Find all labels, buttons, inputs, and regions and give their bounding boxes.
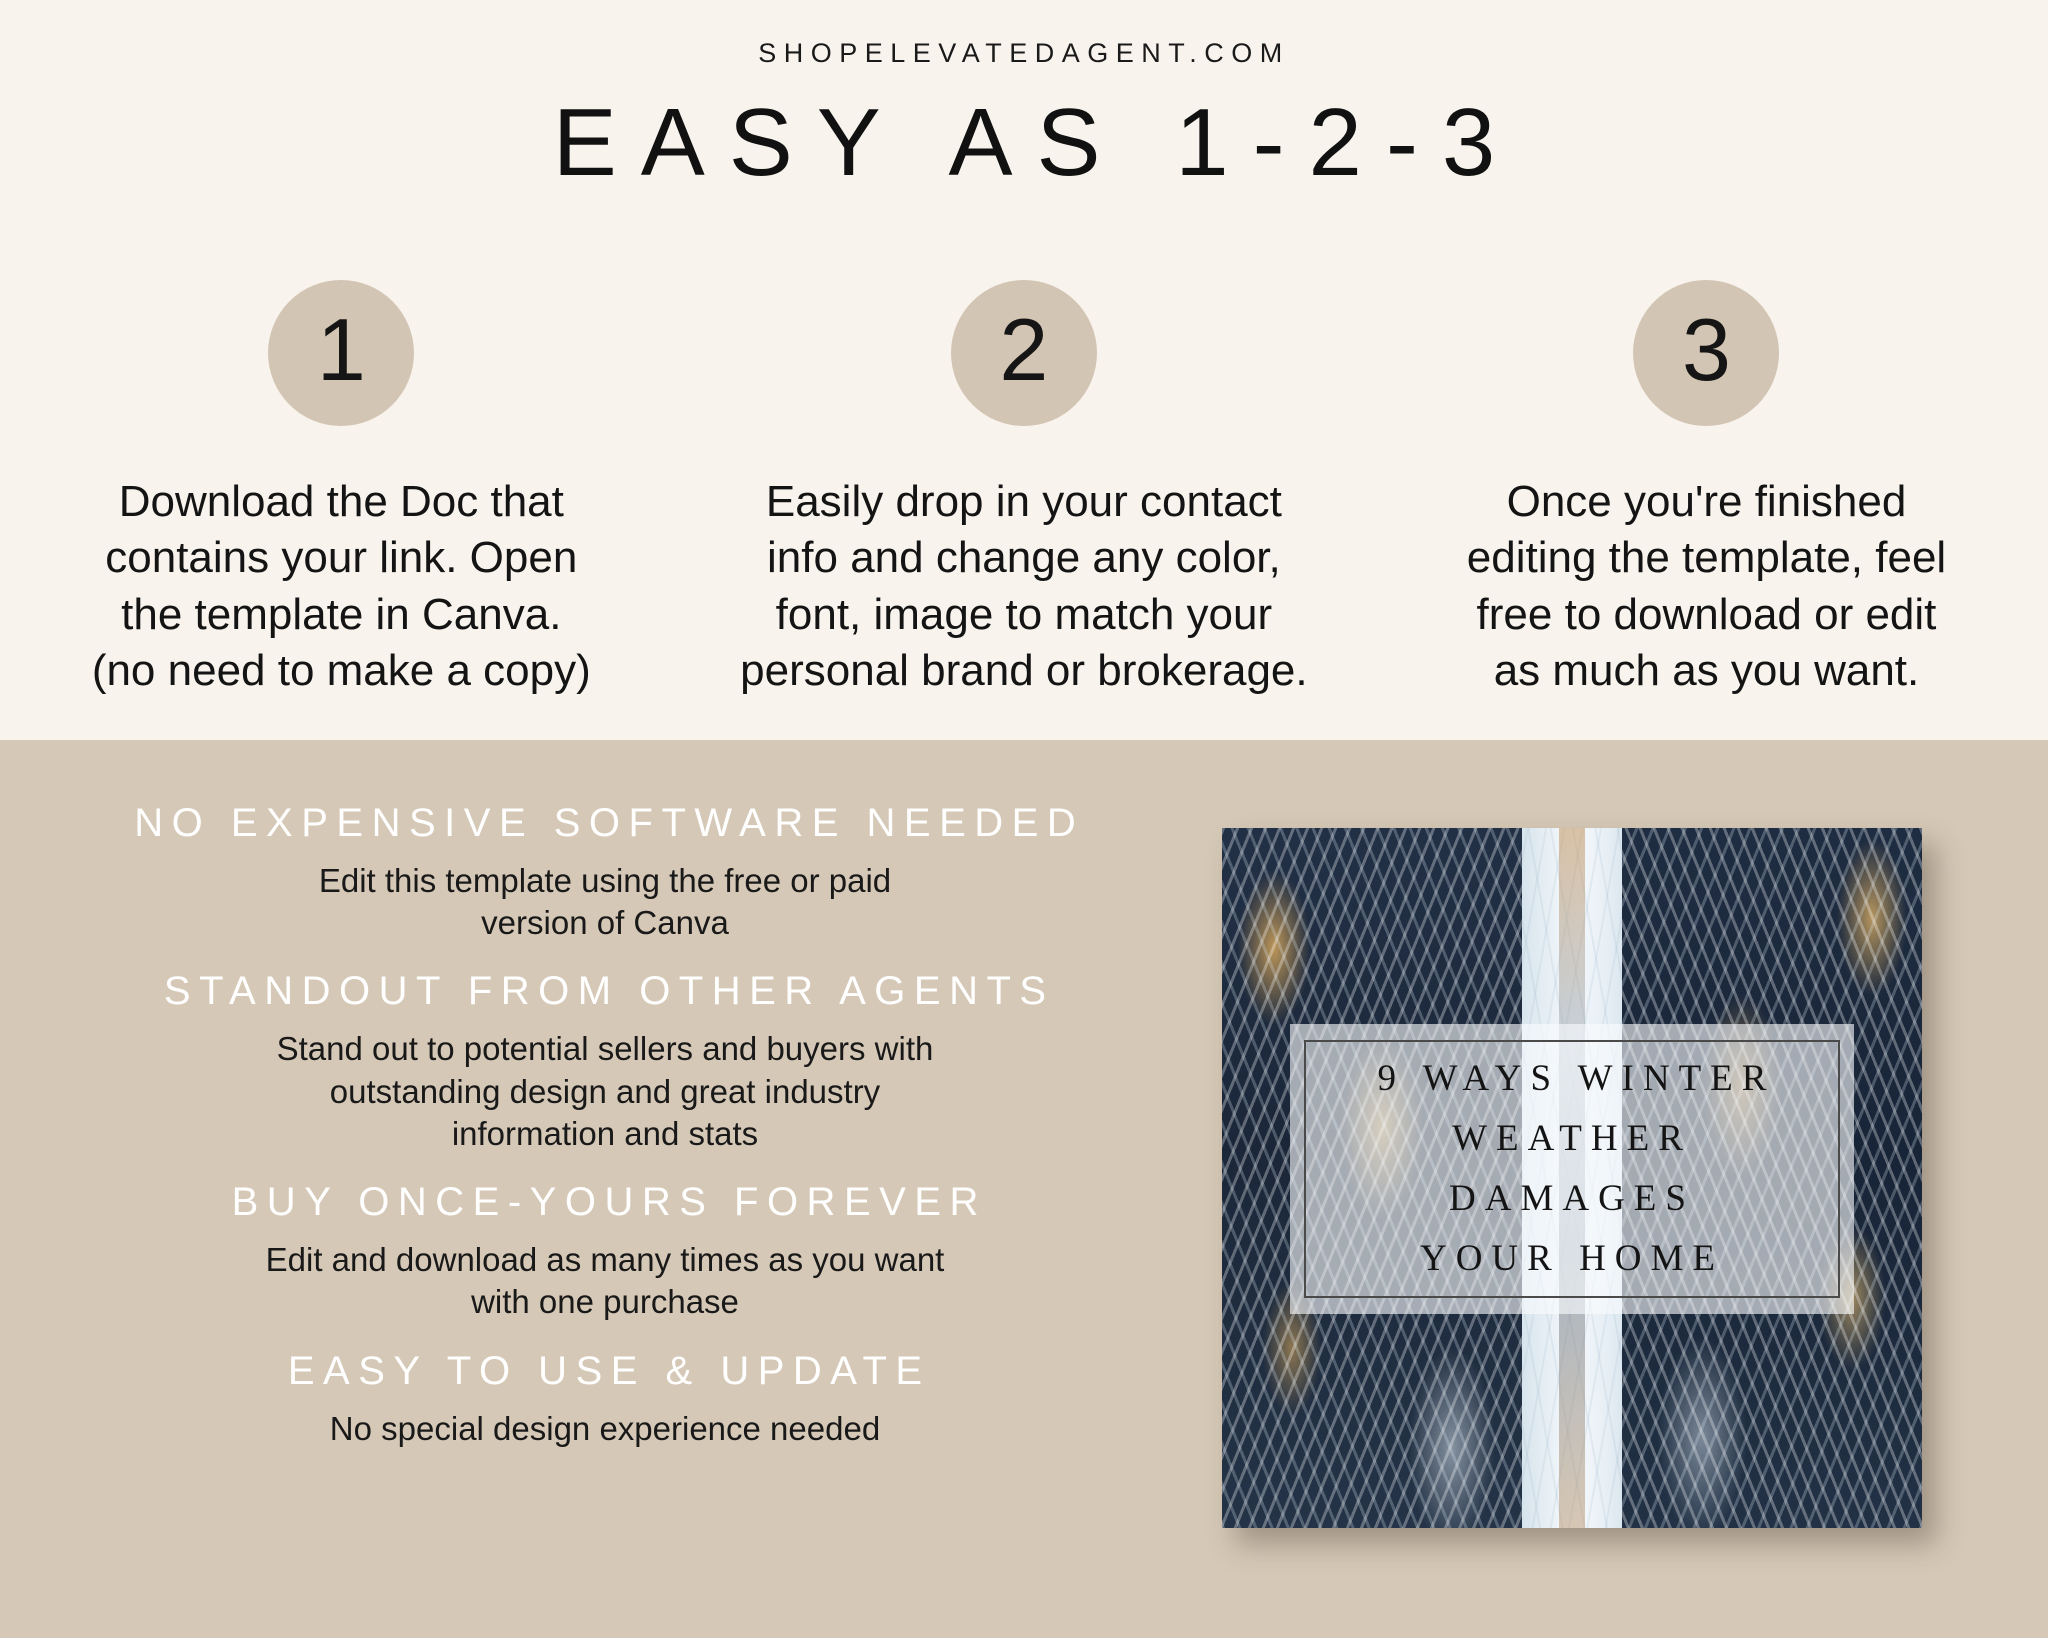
feature-item-4: EASY TO USE & UPDATE No special design e… — [0, 1346, 1210, 1450]
feature-heading-1: NO EXPENSIVE SOFTWARE NEEDED — [0, 798, 1210, 848]
feature-heading-2: STANDOUT FROM OTHER AGENTS — [0, 966, 1210, 1016]
bottom-section: NO EXPENSIVE SOFTWARE NEEDED Edit this t… — [0, 740, 2048, 1638]
step-number-badge-1: 1 — [268, 280, 414, 426]
top-section: SHOPELEVATEDAGENT.COM EASY AS 1-2-3 1 Do… — [0, 0, 2048, 740]
feature-body-2: Stand out to potential sellers and buyer… — [0, 1028, 1210, 1155]
step-column-2: 2 Easily drop in your contact info and c… — [683, 280, 1366, 699]
steps-row: 1 Download the Doc that contains your li… — [0, 280, 2048, 699]
step-number-badge-2: 2 — [951, 280, 1097, 426]
preview-title-text: 9 WAYS WINTER WEATHER DAMAGES YOUR HOME — [1290, 1049, 1854, 1289]
step-description-1: Download the Doc that contains your link… — [31, 474, 651, 699]
feature-list: NO EXPENSIVE SOFTWARE NEEDED Edit this t… — [0, 798, 1210, 1472]
feature-body-3: Edit and download as many times as you w… — [0, 1239, 1210, 1323]
feature-item-3: BUY ONCE-YOURS FOREVER Edit and download… — [0, 1177, 1210, 1323]
preview-title-panel: 9 WAYS WINTER WEATHER DAMAGES YOUR HOME — [1290, 1024, 1854, 1314]
page-title: EASY AS 1-2-3 — [0, 95, 2048, 191]
step-column-1: 1 Download the Doc that contains your li… — [0, 280, 683, 699]
site-url: SHOPELEVATEDAGENT.COM — [0, 38, 2048, 69]
feature-item-2: STANDOUT FROM OTHER AGENTS Stand out to … — [0, 966, 1210, 1155]
feature-heading-3: BUY ONCE-YOURS FOREVER — [0, 1177, 1210, 1227]
template-preview-card: 9 WAYS WINTER WEATHER DAMAGES YOUR HOME — [1222, 828, 1922, 1528]
feature-heading-4: EASY TO USE & UPDATE — [0, 1346, 1210, 1396]
step-number-badge-3: 3 — [1633, 280, 1779, 426]
step-description-2: Easily drop in your contact info and cha… — [714, 474, 1334, 699]
infographic-page: SHOPELEVATEDAGENT.COM EASY AS 1-2-3 1 Do… — [0, 0, 2048, 1638]
feature-body-4: No special design experience needed — [0, 1408, 1210, 1450]
feature-body-1: Edit this template using the free or pai… — [0, 860, 1210, 944]
step-column-3: 3 Once you're finished editing the templ… — [1365, 280, 2048, 699]
feature-item-1: NO EXPENSIVE SOFTWARE NEEDED Edit this t… — [0, 798, 1210, 944]
step-description-3: Once you're finished editing the templat… — [1396, 474, 2016, 699]
